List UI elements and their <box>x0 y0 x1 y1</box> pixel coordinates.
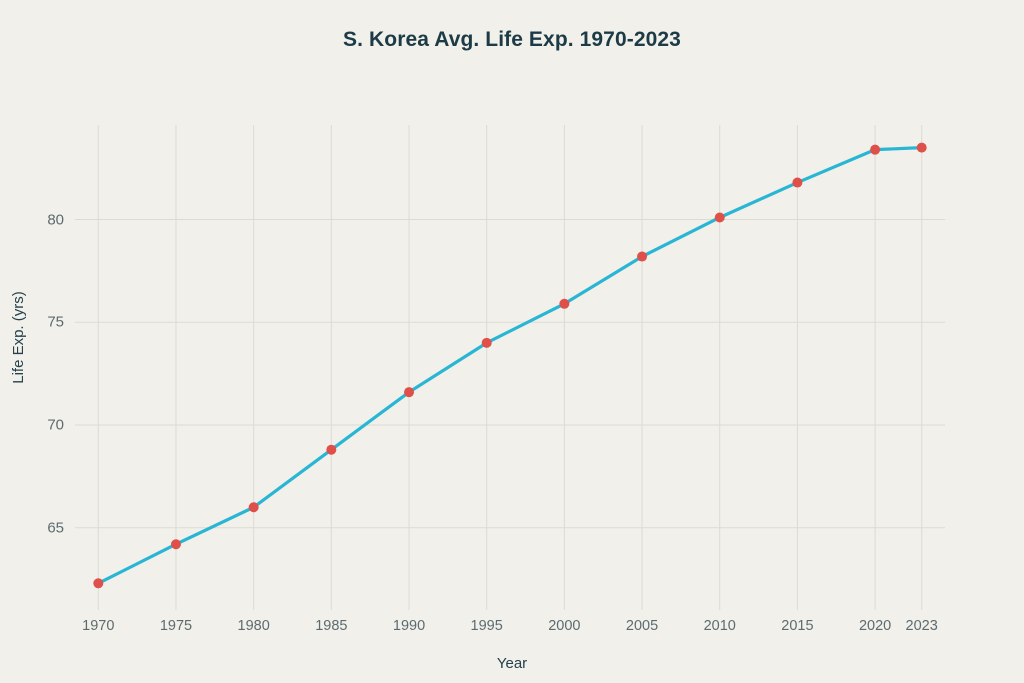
x-axis-tick-label: 1995 <box>471 618 503 634</box>
x-axis-tick-label: 2010 <box>704 618 736 634</box>
data-point-marker: 2005: 78.2 <box>637 252 647 262</box>
x-axis-tick-label: 1970 <box>82 618 114 634</box>
chart-title: S. Korea Avg. Life Exp. 1970-2023 <box>0 28 1024 52</box>
x-axis-tick-label: 2005 <box>626 618 658 634</box>
chart-container: S. Korea Avg. Life Exp. 1970-2023 Life E… <box>0 0 1024 683</box>
data-point-marker: 2023: 83.5 <box>917 143 927 153</box>
data-point-marker: 1990: 71.6 <box>404 387 414 397</box>
data-line <box>98 148 921 584</box>
data-point-marker: 2010: 80.1 <box>715 212 725 222</box>
y-axis-tick-label: 75 <box>47 314 64 331</box>
grid-lines <box>75 125 945 610</box>
x-axis-tick-label: 1975 <box>160 618 192 634</box>
x-axis-tick-label: 2015 <box>781 618 813 634</box>
data-point-marker: 1995: 74 <box>482 338 492 348</box>
x-axis-tick-labels: 1970197519801985199019952000200520102015… <box>75 618 945 642</box>
data-point-marker: 1975: 64.2 <box>171 539 181 549</box>
data-point-marker: 1980: 66 <box>249 502 259 512</box>
line-chart-svg: 1970: 62.31975: 64.21980: 661985: 68.819… <box>75 125 945 610</box>
data-point-marker: 2015: 81.8 <box>792 178 802 188</box>
plot-area: 1970: 62.31975: 64.21980: 661985: 68.819… <box>75 125 945 610</box>
data-point-marker: 1970: 62.3 <box>93 578 103 588</box>
x-axis-tick-label: 2000 <box>548 618 580 634</box>
data-point-marker: 1985: 68.8 <box>326 445 336 455</box>
x-axis-title: Year <box>0 655 1024 672</box>
x-axis-tick-label: 2020 <box>859 618 891 634</box>
x-axis-tick-label: 1985 <box>315 618 347 634</box>
x-axis-tick-label: 2023 <box>906 618 938 634</box>
data-point-marker: 2000: 75.9 <box>559 299 569 309</box>
y-axis-tick-label: 80 <box>47 211 64 228</box>
y-axis-tick-label: 70 <box>47 417 64 434</box>
data-point-markers: 1970: 62.31975: 64.21980: 661985: 68.819… <box>93 143 926 589</box>
x-axis-tick-label: 1980 <box>238 618 270 634</box>
data-point-marker: 2020: 83.4 <box>870 145 880 155</box>
x-axis-tick-label: 1990 <box>393 618 425 634</box>
y-axis-tick-labels: 65707580 <box>0 125 64 610</box>
y-axis-tick-label: 65 <box>47 519 64 536</box>
